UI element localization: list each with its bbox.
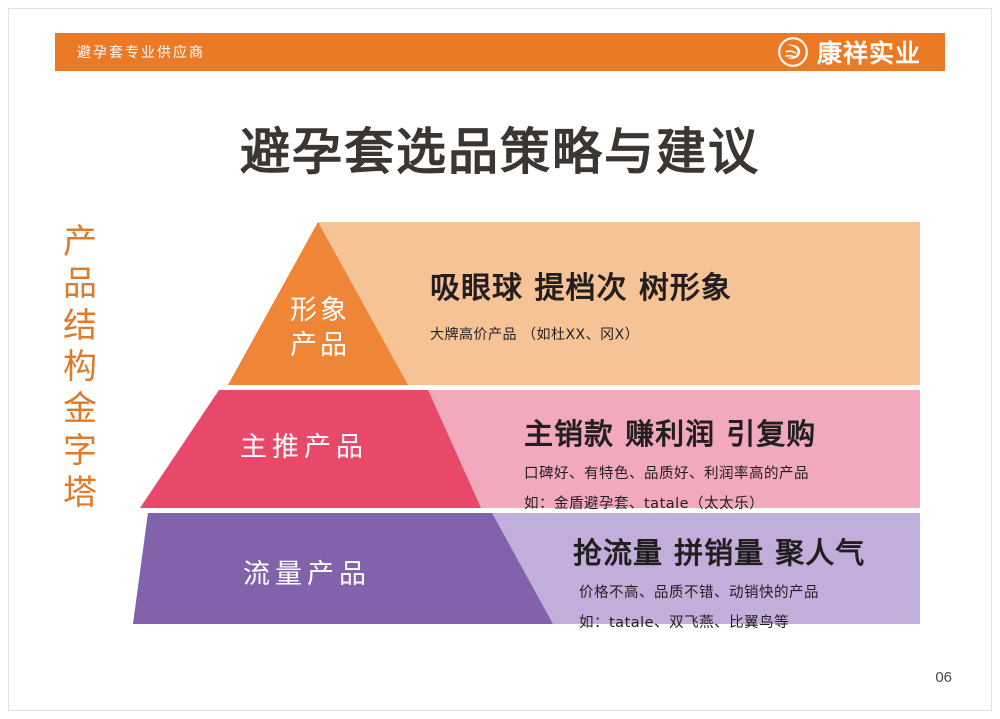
tier-3-subtitle-1: 价格不高、品质不错、动销快的产品 — [573, 581, 865, 602]
tier-2-label: 主推产品 — [240, 425, 368, 464]
tier-2-label-line: 主推产品 — [240, 425, 368, 464]
tier-3-subtitle-2: 如：tatale、双飞燕、比翼鸟等 — [573, 611, 865, 632]
brand-logo: 康祥实业 — [778, 34, 921, 70]
tier-1-subtitle: 大牌高价产品 （如杜XX、冈X） — [430, 324, 732, 344]
header-tagline: 避孕套专业供应商 — [77, 42, 205, 62]
tier-2-subtitle-2: 如：金盾避孕套、tatale（太太乐） — [524, 492, 816, 513]
tier-1-label: 形象 产品 — [272, 293, 368, 363]
vertical-caption-char: 结 — [58, 306, 102, 348]
tier-3-body: 抢流量 拼销量 聚人气 价格不高、品质不错、动销快的产品 如：tatale、双飞… — [573, 530, 865, 632]
tier-1-headline: 吸眼球 提档次 树形象 — [430, 263, 732, 307]
vertical-caption-char: 产 — [58, 222, 102, 264]
vertical-caption-char: 字 — [58, 431, 102, 473]
vertical-caption-char: 构 — [58, 347, 102, 389]
vertical-caption-char: 塔 — [58, 473, 102, 515]
page-title: 避孕套选品策略与建议 — [0, 112, 1000, 184]
tier-1-label-line: 产品 — [272, 328, 368, 363]
tier-1-body: 吸眼球 提档次 树形象 大牌高价产品 （如杜XX、冈X） — [430, 263, 732, 344]
tier-2-body: 主销款 赚利润 引复购 口碑好、有特色、品质好、利润率高的产品 如：金盾避孕套、… — [524, 411, 816, 513]
leaf-swirl-logo-icon — [778, 37, 808, 67]
tier-2-headline: 主销款 赚利润 引复购 — [524, 411, 816, 453]
tier-3-label: 流量产品 — [243, 552, 371, 591]
slide: 避孕套专业供应商 康祥实业 避孕套选品策略与建议 产 品 结 构 金 字 塔 — [0, 0, 1000, 719]
brand-name: 康祥实业 — [817, 34, 921, 70]
tier-2-subtitle-1: 口碑好、有特色、品质好、利润率高的产品 — [524, 462, 816, 483]
vertical-caption-char: 品 — [58, 264, 102, 306]
vertical-caption: 产 品 结 构 金 字 塔 — [58, 222, 102, 515]
tier-3-headline: 抢流量 拼销量 聚人气 — [573, 530, 865, 572]
vertical-caption-char: 金 — [58, 389, 102, 431]
header-bar: 避孕套专业供应商 康祥实业 — [55, 33, 945, 71]
page-number: 06 — [935, 669, 952, 686]
tier-3-label-line: 流量产品 — [243, 552, 371, 591]
tier-1-label-line: 形象 — [272, 293, 368, 328]
